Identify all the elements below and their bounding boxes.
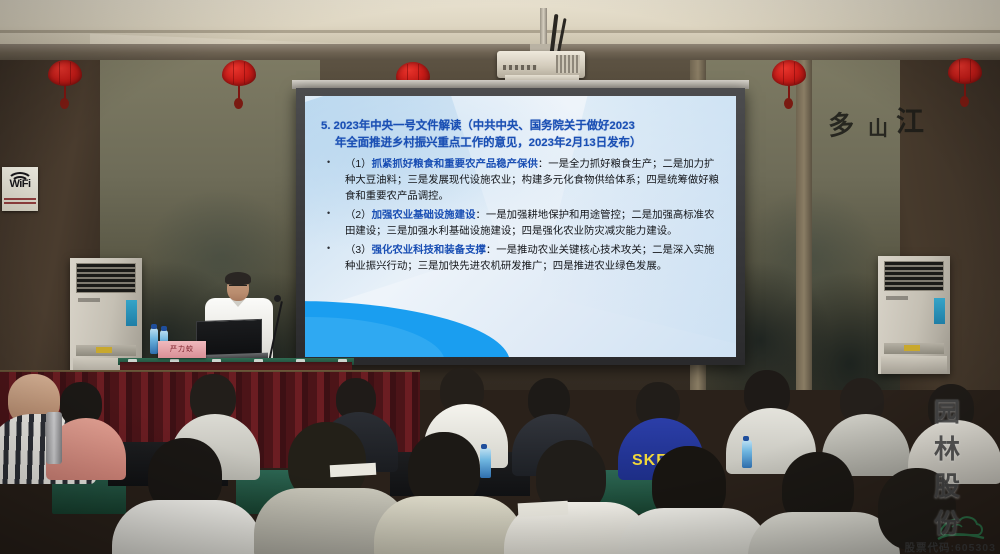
audience-body — [374, 496, 524, 554]
mural-divider — [796, 60, 812, 390]
red-lantern — [948, 58, 982, 86]
water-bottle — [480, 448, 491, 478]
ac-display — [96, 347, 112, 353]
ac-grill — [76, 263, 136, 293]
audience-body — [112, 500, 262, 554]
thermos-flask — [46, 412, 62, 464]
ceiling-projector — [497, 51, 585, 78]
projector-mount-rod — [540, 8, 547, 48]
red-lantern — [48, 60, 82, 88]
calligraphy-character: 江 — [896, 100, 924, 140]
bullet-highlight: 加强农业基础设施建设 — [372, 210, 476, 221]
slide-bullet-item: （3）强化农业科技和装备支撑：一是推动农业关键核心技术攻关；二是深入实施种业振兴… — [319, 243, 720, 275]
projection-screen: 5.2023年中央一号文件解读（中共中央、国务院关于做好2023 年全面推进乡村… — [305, 96, 736, 357]
slide-bullet-list: （1）抓紧抓好粮食和重要农产品稳产保供：一是全力抓好粮食生产；二是加力扩种大豆油… — [319, 157, 720, 275]
wifi-label: WiFi — [3, 178, 37, 190]
ceiling-seam — [0, 30, 1000, 33]
ac-display — [904, 345, 920, 351]
ac-brand-mark — [78, 298, 100, 302]
wifi-sign: WiFi — [2, 167, 38, 211]
watermark-brand: 园林股份 — [934, 392, 988, 540]
calligraphy-character: 多 — [827, 104, 856, 143]
air-conditioner-right — [878, 256, 950, 374]
projector-vent — [556, 55, 580, 73]
ac-badge — [934, 298, 945, 324]
slide-title-line2: 年全面推进乡村振兴重点工作的意见，2023年2月13日发布） — [335, 137, 641, 149]
nameplate-text: 严力蛟 — [158, 341, 206, 358]
red-lantern — [772, 60, 806, 88]
calligraphy-character: 山 — [868, 112, 888, 141]
bullet-label: （2） — [345, 210, 372, 221]
presenter-glasses — [229, 285, 247, 290]
slide-title-number: 5. — [321, 120, 334, 132]
wifi-sign-subtext — [4, 198, 36, 206]
papers — [330, 463, 377, 477]
conference-room-photo: 多 山 江 WiFi — [0, 0, 1000, 554]
water-bottle — [150, 328, 158, 354]
ac-brand-mark — [886, 296, 908, 300]
presenter-nameplate: 严力蛟 — [158, 341, 206, 358]
slide-content: 5.2023年中央一号文件解读（中共中央、国务院关于做好2023 年全面推进乡村… — [305, 96, 736, 275]
red-lantern — [222, 60, 256, 88]
papers — [518, 501, 569, 518]
bullet-label: （3） — [345, 245, 372, 256]
slide-title: 5.2023年中央一号文件解读（中共中央、国务院关于做好2023 年全面推进乡村… — [319, 118, 720, 153]
ac-badge — [126, 300, 137, 326]
slide-title-line1: 2023年中央一号文件解读（中共中央、国务院关于做好2023 — [334, 120, 635, 132]
ac-grill — [884, 261, 944, 291]
slide-bullet-item: （2）加强农业基础设施建设：一是加强耕地保护和用途管控；二是加强高标准农田建设；… — [319, 208, 720, 240]
audience-body — [618, 508, 770, 554]
projector-ports — [503, 65, 537, 70]
bullet-highlight: 抓紧抓好粮食和重要农产品稳产保供 — [372, 159, 538, 170]
bullet-label: （1） — [345, 159, 372, 170]
ac-base — [881, 356, 947, 374]
water-bottle — [742, 440, 752, 468]
presenter-hair — [225, 272, 251, 285]
projection-screen-frame: 5.2023年中央一号文件解读（中共中央、国务院关于做好2023 年全面推进乡村… — [296, 88, 745, 365]
bullet-highlight: 强化农业科技和装备支撑 — [372, 245, 486, 256]
microphone-head — [274, 295, 281, 302]
watermark-stock-code: 股票代码:605303 — [904, 540, 996, 554]
slide-bullet-item: （1）抓紧抓好粮食和重要农产品稳产保供：一是全力抓好粮食生产；二是加力扩种大豆油… — [319, 157, 720, 205]
